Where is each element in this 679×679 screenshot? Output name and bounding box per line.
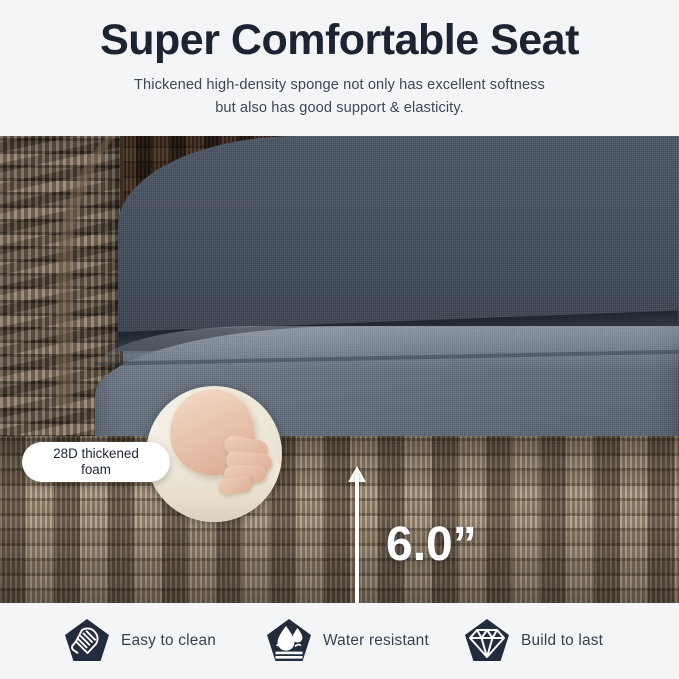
measurement-arrow <box>340 464 374 603</box>
easy-to-clean-icon <box>62 617 112 665</box>
feature-build-to-last: Build to last <box>462 617 603 665</box>
feature-list: Easy to clean Water resistant <box>0 603 679 679</box>
callout-line-1: 28D thickened <box>53 446 139 461</box>
header-section: Super Comfortable Seat Thickened high-de… <box>0 0 679 136</box>
measurement-label: 6.0” <box>386 519 477 571</box>
callout-line-2: foam <box>81 462 111 477</box>
feature-label-build-to-last: Build to last <box>521 632 603 650</box>
subtitle-line-2: but also has good support & elasticity. <box>0 97 679 120</box>
water-resistant-icon <box>264 617 314 665</box>
foam-callout-badge: 28D thickened foam <box>22 442 170 482</box>
arrow-shaft <box>355 474 359 603</box>
product-infographic: Super Comfortable Seat Thickened high-de… <box>0 0 679 679</box>
page-title: Super Comfortable Seat <box>0 14 679 66</box>
product-photo: 28D thickened foam 6.0” <box>0 136 679 603</box>
feature-bar: Easy to clean Water resistant <box>0 603 679 679</box>
feature-label-water-resistant: Water resistant <box>323 632 429 650</box>
feature-easy-to-clean: Easy to clean <box>62 617 216 665</box>
build-to-last-diamond-icon <box>462 617 512 665</box>
page-subtitle: Thickened high-density sponge not only h… <box>0 74 679 120</box>
subtitle-line-1: Thickened high-density sponge not only h… <box>0 74 679 97</box>
feature-water-resistant: Water resistant <box>264 617 429 665</box>
feature-label-easy-to-clean: Easy to clean <box>121 632 216 650</box>
